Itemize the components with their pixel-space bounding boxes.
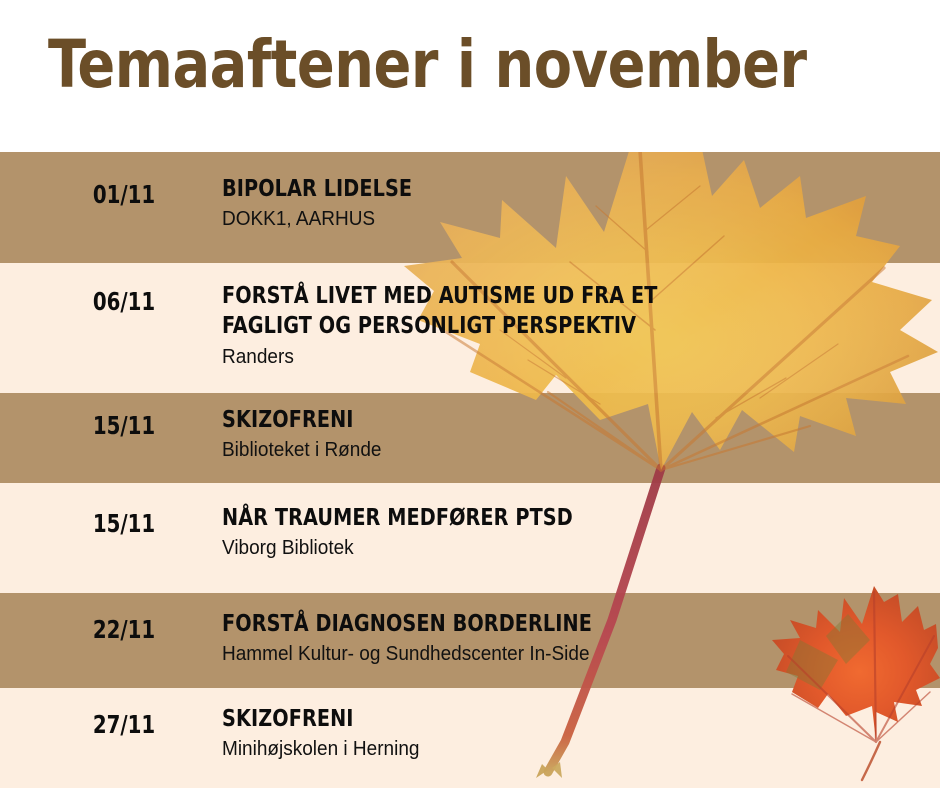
event-date: 06/11 xyxy=(62,287,185,316)
list-item[interactable]: 06/11 FORSTÅ LIVET MED AUTISME UD FRA ET… xyxy=(0,263,940,393)
event-body: SKIZOFRENI Biblioteket i Rønde xyxy=(222,405,922,464)
event-body: NÅR TRAUMER MEDFØRER PTSD Viborg Bibliot… xyxy=(222,503,922,562)
event-title: SKIZOFRENI xyxy=(222,704,873,734)
event-title: BIPOLAR LIDELSE xyxy=(222,174,873,204)
event-date: 22/11 xyxy=(62,615,185,644)
event-body: BIPOLAR LIDELSE DOKK1, AARHUS xyxy=(222,174,922,233)
event-date: 15/11 xyxy=(62,411,185,440)
list-item[interactable]: 22/11 FORSTÅ DIAGNOSEN BORDERLINE Hammel… xyxy=(0,593,940,688)
event-title: SKIZOFRENI xyxy=(222,405,873,435)
event-venue: Randers xyxy=(222,344,887,371)
event-venue: Viborg Bibliotek xyxy=(222,535,887,562)
event-body: FORSTÅ DIAGNOSEN BORDERLINE Hammel Kultu… xyxy=(222,609,922,668)
list-item[interactable]: 15/11 SKIZOFRENI Biblioteket i Rønde xyxy=(0,393,940,483)
event-date: 01/11 xyxy=(62,180,185,209)
event-body: FORSTÅ LIVET MED AUTISME UD FRA ET FAGLI… xyxy=(222,281,922,371)
list-item[interactable]: 15/11 NÅR TRAUMER MEDFØRER PTSD Viborg B… xyxy=(0,483,940,593)
event-venue: DOKK1, AARHUS xyxy=(222,206,887,233)
poster: Temaaftener i november 01/11 BIPOLAR LID… xyxy=(0,0,940,788)
event-title: NÅR TRAUMER MEDFØRER PTSD xyxy=(222,503,873,533)
list-item[interactable]: 27/11 SKIZOFRENI Minihøjskolen i Herning xyxy=(0,688,940,788)
list-item[interactable]: 01/11 BIPOLAR LIDELSE DOKK1, AARHUS xyxy=(0,152,940,263)
event-date: 15/11 xyxy=(62,509,185,538)
event-venue: Hammel Kultur- og Sundhedscenter In-Side xyxy=(222,641,887,668)
event-body: SKIZOFRENI Minihøjskolen i Herning xyxy=(222,704,922,763)
event-title: FORSTÅ LIVET MED AUTISME UD FRA ET FAGLI… xyxy=(222,281,873,342)
event-date: 27/11 xyxy=(62,710,185,739)
event-venue: Biblioteket i Rønde xyxy=(222,437,887,464)
event-title: FORSTÅ DIAGNOSEN BORDERLINE xyxy=(222,609,873,639)
event-venue: Minihøjskolen i Herning xyxy=(222,736,887,763)
poster-header: Temaaftener i november xyxy=(0,0,940,152)
page-title: Temaaftener i november xyxy=(48,26,807,103)
